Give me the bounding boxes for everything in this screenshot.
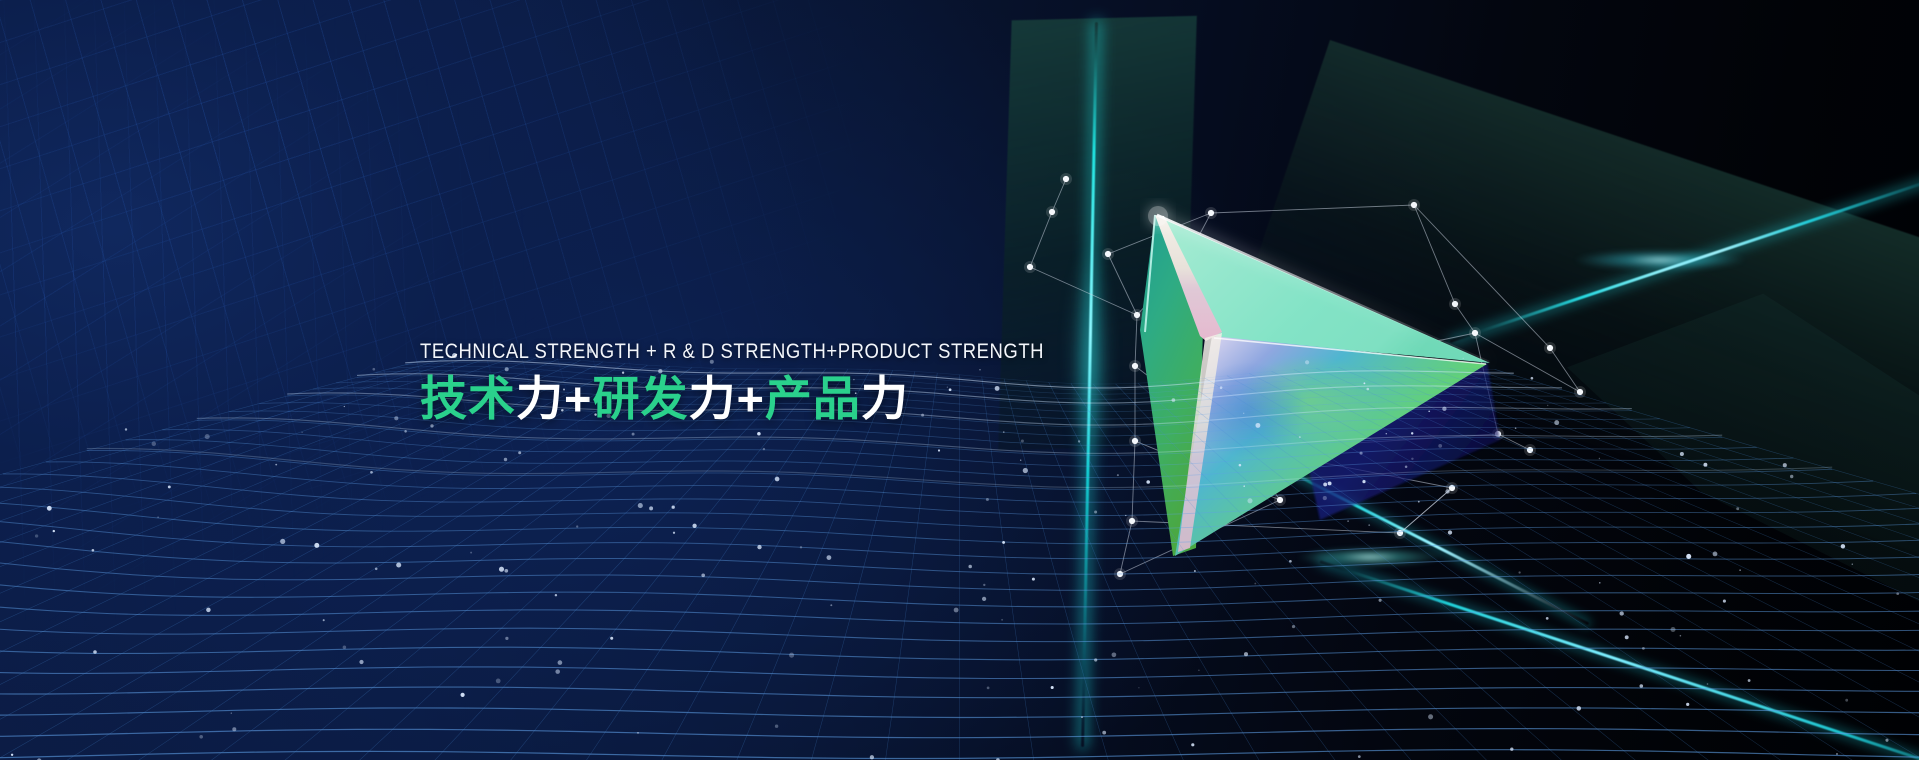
terrain-particle — [1146, 480, 1150, 484]
terrain-particle — [1642, 647, 1645, 650]
terrain-cross-line — [0, 359, 447, 760]
terrain-particle — [1531, 377, 1534, 380]
terrain-cross-line — [1450, 368, 1919, 760]
terrain-particle — [1554, 420, 1559, 425]
terrain-cross-line — [1227, 376, 1919, 760]
terrain-particle — [1094, 511, 1097, 514]
terrain-particle — [1239, 464, 1242, 467]
terrain-particle — [637, 732, 639, 734]
terrain-particle — [1020, 460, 1021, 461]
terrain-particle — [35, 534, 38, 537]
terrain-particle — [1328, 481, 1332, 485]
terrain-particle — [1220, 386, 1223, 389]
terrain-cross-line — [560, 369, 848, 760]
terrain-particle — [1023, 468, 1028, 473]
terrain-particle — [1438, 444, 1442, 448]
terrain-particle — [830, 604, 832, 606]
terrain-particle — [499, 567, 504, 572]
terrain-particle — [1703, 463, 1707, 467]
terrain-cross-line — [1316, 368, 1919, 760]
terrain-particle — [1289, 560, 1292, 563]
terrain-particle — [1599, 458, 1600, 459]
terrain-particle — [1599, 582, 1600, 583]
terrain-particle — [1686, 703, 1689, 706]
terrain-particle — [504, 458, 507, 461]
terrain-particle — [987, 687, 990, 690]
terrain-particle — [1001, 619, 1003, 621]
headline-segment-6: 产品 — [765, 372, 861, 425]
terrain-particle — [938, 449, 940, 451]
terrain-particle — [1299, 436, 1301, 438]
terrain-particle — [394, 416, 398, 420]
terrain-particle — [359, 660, 363, 664]
terrain-particle — [199, 735, 203, 739]
terrain-particle — [1172, 398, 1176, 402]
terrain-particle — [638, 503, 643, 508]
hero-eyebrow-text: TECHNICAL STRENGTH + R & D STRENGTH+PROD… — [420, 340, 1044, 364]
terrain-cross-line — [1428, 368, 1919, 760]
terrain-cross-line — [400, 369, 804, 760]
terrain-particle — [632, 433, 635, 436]
terrain-particle — [205, 434, 210, 439]
terrain-particle — [983, 584, 985, 586]
terrain-particle — [968, 565, 972, 569]
hero-text-block: TECHNICAL STRENGTH + R & D STRENGTH+PROD… — [420, 340, 1129, 426]
terrain-particle — [1002, 541, 1005, 544]
terrain-particle — [1051, 686, 1054, 689]
terrain-particle — [47, 506, 52, 511]
terrain-particle — [1411, 458, 1413, 460]
terrain-particle — [757, 545, 761, 549]
terrain-particle — [1640, 684, 1644, 688]
terrain-particle — [1620, 611, 1624, 615]
terrain-particle — [168, 485, 171, 488]
terrain-particle — [1670, 627, 1675, 632]
terrain-particle — [986, 498, 989, 501]
terrain-particle — [1360, 452, 1363, 455]
terrain-particle — [1305, 360, 1309, 364]
terrain-particle — [1515, 427, 1517, 429]
terrain-particle — [673, 532, 675, 534]
terrain-cross-line — [1116, 384, 1520, 760]
headline-segment-7: 力 — [861, 372, 909, 425]
terrain-particle — [301, 432, 302, 433]
terrain-particle — [11, 754, 13, 756]
terrain-particle — [1021, 439, 1024, 442]
terrain-particle — [827, 555, 832, 560]
terrain-particle — [1323, 482, 1327, 486]
terrain-particle — [344, 406, 345, 407]
terrain-particle — [1625, 635, 1629, 639]
terrain-particle — [231, 712, 232, 713]
terrain-particle — [775, 477, 780, 482]
terrain-particle — [1138, 687, 1139, 688]
terrain-particle — [1790, 475, 1793, 478]
terrain-particle — [757, 432, 761, 436]
terrain-particle — [692, 524, 696, 528]
terrain-particle — [53, 530, 55, 532]
terrain-particle — [470, 552, 472, 554]
terrain-particle — [1368, 524, 1370, 526]
terrain-particle — [1379, 599, 1382, 602]
terrain-particle — [1428, 714, 1433, 719]
hero-banner: TECHNICAL STRENGTH + R & D STRENGTH+PROD… — [0, 0, 1919, 760]
terrain-cross-line — [160, 369, 737, 760]
terrain-particle — [1255, 423, 1260, 428]
terrain-particle — [1102, 731, 1106, 735]
terrain-cross-line — [1026, 381, 1199, 760]
terrain-particle — [982, 597, 986, 601]
headline-segment-5: + — [736, 372, 764, 425]
terrain-particle — [1713, 551, 1718, 556]
headline-segment-1: 力 — [516, 372, 564, 425]
terrain-particle — [1112, 652, 1117, 657]
headline-segment-3: 研发 — [592, 372, 688, 425]
terrain-particle — [504, 569, 508, 573]
terrain-particle — [576, 525, 578, 527]
terrain-cross-line — [1093, 384, 1439, 760]
terrain-particle — [1418, 501, 1420, 503]
terrain-particle — [375, 568, 378, 571]
terrain-particle — [1885, 739, 1888, 742]
terrain-particle — [1363, 382, 1365, 384]
terrain-particle — [1428, 410, 1430, 412]
terrain-particle — [1198, 669, 1200, 671]
terrain-particle — [1783, 463, 1787, 467]
terrain-particle — [1723, 600, 1726, 603]
terrain-particle — [1411, 432, 1413, 434]
terrain-cross-line — [1339, 367, 1919, 760]
terrain-particle — [1323, 496, 1327, 500]
hero-headline: 技术力+研发力+产品力 — [420, 371, 1129, 426]
terrain-particle — [1836, 753, 1837, 754]
terrain-particle — [789, 653, 794, 658]
arrow-top-vertex-glow — [1148, 206, 1168, 226]
terrain-particle — [1032, 578, 1035, 581]
terrain-particle — [1546, 617, 1549, 620]
terrain-particle — [1292, 625, 1295, 628]
terrain-particle — [518, 451, 521, 454]
terrain-cross-line — [240, 369, 759, 760]
terrain-cross-line — [1405, 367, 1919, 760]
terrain-particle — [763, 448, 765, 450]
terrain-particle — [1244, 652, 1248, 656]
terrain-particle — [555, 594, 557, 596]
terrain-cross-line — [880, 373, 938, 760]
terrain-particle — [1003, 431, 1004, 432]
terrain-particle — [314, 543, 319, 548]
terrain-particle — [505, 637, 508, 640]
terrain-particle — [396, 562, 401, 567]
terrain-particle — [1448, 530, 1452, 534]
terrain-particle — [1243, 413, 1244, 414]
terrain-particle — [672, 506, 675, 509]
terrain-particle — [125, 428, 127, 430]
terrain-particle — [275, 464, 277, 466]
terrain-particle — [1243, 485, 1245, 487]
terrain-particle — [404, 430, 407, 433]
terrain-particle — [1347, 520, 1349, 522]
terrain-particle — [701, 573, 705, 577]
terrain-particle — [775, 725, 778, 728]
terrain-particle — [1254, 583, 1256, 585]
terrain-particle — [1386, 433, 1387, 434]
terrain-particle — [1845, 699, 1848, 702]
terrain-cross-line — [1361, 367, 1919, 760]
terrain-particle — [496, 679, 501, 684]
terrain-particle — [1078, 440, 1080, 442]
headline-segment-4: 力 — [688, 372, 736, 425]
terrain-particle — [800, 546, 802, 548]
terrain-cross-line — [1495, 369, 1919, 759]
terrain-particle — [954, 608, 959, 613]
terrain-particle — [1547, 405, 1548, 406]
terrain-particle — [206, 608, 211, 613]
terrain-particle — [1445, 489, 1449, 493]
terrain-particle — [1442, 407, 1446, 411]
terrain-particle — [1358, 755, 1361, 758]
terrain-particle — [461, 693, 465, 697]
terrain-particle — [1577, 706, 1582, 711]
terrain-particle — [1736, 507, 1739, 510]
terrain-particle — [1841, 544, 1845, 548]
terrain-particle — [1686, 554, 1691, 559]
terrain-particle — [1896, 592, 1899, 595]
terrain-particle — [649, 506, 653, 510]
terrain-particle — [370, 471, 373, 474]
terrain-particle — [1117, 474, 1119, 476]
terrain-particle — [1748, 679, 1751, 682]
terrain-particle — [558, 660, 563, 665]
terrain-particle — [1366, 388, 1369, 391]
terrain-particle — [157, 516, 159, 518]
terrain-particle — [280, 539, 285, 544]
terrain-particle — [1510, 748, 1513, 751]
terrain-particle — [1463, 358, 1464, 359]
terrain-particle — [323, 619, 325, 621]
terrain-cross-line — [640, 370, 871, 760]
terrain-particle — [610, 637, 613, 640]
terrain-cross-line — [1249, 374, 1919, 760]
terrain-particle — [1852, 563, 1853, 564]
terrain-cross-line — [720, 370, 893, 760]
terrain-cross-line — [1049, 382, 1280, 760]
headline-segment-2: + — [564, 372, 592, 425]
terrain-particle — [1680, 635, 1682, 637]
terrain-particle — [1125, 515, 1126, 516]
terrain-particle — [343, 646, 347, 650]
terrain-particle — [555, 669, 560, 674]
terrain-particle — [92, 549, 95, 552]
terrain-particle — [1707, 683, 1709, 685]
terrain-particle — [152, 442, 156, 446]
terrain-particle — [1247, 498, 1252, 503]
terrain-particle — [1680, 452, 1684, 456]
terrain-particle — [93, 650, 97, 654]
terrain-cross-line — [480, 369, 826, 760]
headline-segment-0: 技术 — [420, 372, 516, 425]
terrain-particle — [1739, 569, 1740, 570]
terrain-particle — [372, 368, 375, 371]
terrain-particle — [1362, 480, 1365, 483]
terrain-particle — [870, 755, 874, 759]
terrain-particle — [1094, 658, 1097, 661]
terrain-particle — [1191, 743, 1194, 746]
terrain-particle — [1405, 466, 1408, 469]
terrain-particle — [1194, 570, 1196, 572]
terrain-particle — [1081, 716, 1083, 718]
terrain-particle — [1518, 571, 1520, 573]
terrain-particle — [232, 727, 236, 731]
